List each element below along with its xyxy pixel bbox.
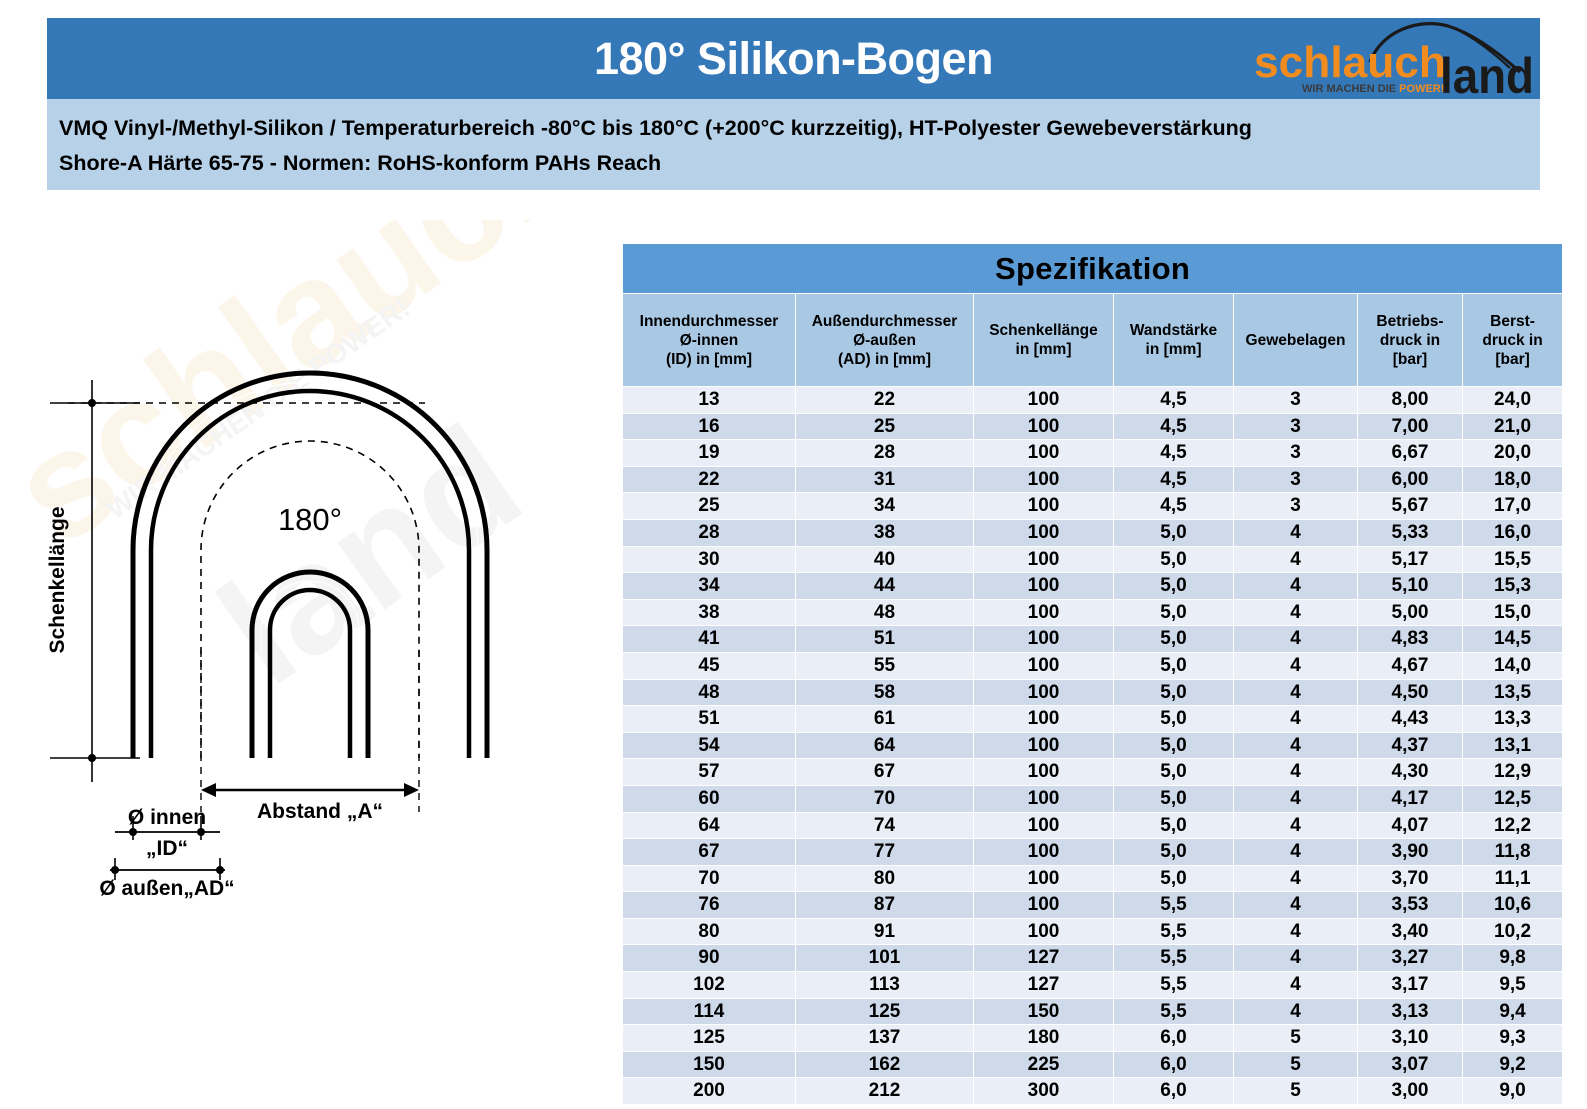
column-header-5: Betriebs-druck in[bar] [1358, 294, 1463, 387]
cell-r9-c6: 14,5 [1463, 626, 1563, 653]
inner-diameter-code: „ID“ [146, 837, 188, 860]
cell-r8-c2: 100 [974, 599, 1114, 626]
cell-r4-c0: 25 [623, 493, 796, 520]
cell-r13-c0: 54 [623, 732, 796, 759]
table-row: 1141251505,543,139,4 [623, 998, 1563, 1025]
cell-r18-c2: 100 [974, 865, 1114, 892]
cell-r7-c6: 15,3 [1463, 573, 1563, 600]
cell-r1-c4: 3 [1234, 413, 1358, 440]
table-banner-row: Spezifikation [623, 244, 1563, 294]
cell-r2-c5: 6,67 [1358, 440, 1463, 467]
cell-r26-c5: 3,00 [1358, 1078, 1463, 1105]
cell-r24-c4: 5 [1234, 1025, 1358, 1052]
cell-r6-c6: 15,5 [1463, 546, 1563, 573]
subtitle-line-1: VMQ Vinyl-/Methyl-Silikon / Temperaturbe… [59, 111, 1540, 146]
cell-r0-c5: 8,00 [1358, 387, 1463, 414]
cell-r22-c4: 4 [1234, 972, 1358, 999]
watermark: schlauch land WIR MACHEN DIE POWER! [20, 220, 600, 717]
cell-r14-c2: 100 [974, 759, 1114, 786]
cell-r16-c3: 5,0 [1114, 812, 1234, 839]
cell-r13-c5: 4,37 [1358, 732, 1463, 759]
cell-r25-c6: 9,2 [1463, 1051, 1563, 1078]
cell-r6-c3: 5,0 [1114, 546, 1234, 573]
cell-r20-c2: 100 [974, 918, 1114, 945]
cell-r22-c6: 9,5 [1463, 972, 1563, 999]
cell-r6-c5: 5,17 [1358, 546, 1463, 573]
cell-r25-c0: 150 [623, 1051, 796, 1078]
cell-r5-c2: 100 [974, 519, 1114, 546]
cell-r14-c3: 5,0 [1114, 759, 1234, 786]
cell-r16-c5: 4,07 [1358, 812, 1463, 839]
cell-r21-c0: 90 [623, 945, 796, 972]
table-row: 1501622256,053,079,2 [623, 1051, 1563, 1078]
cell-r13-c3: 5,0 [1114, 732, 1234, 759]
cell-r16-c4: 4 [1234, 812, 1358, 839]
table-row: 1251371806,053,109,3 [623, 1025, 1563, 1052]
cell-r12-c4: 4 [1234, 706, 1358, 733]
cell-r19-c5: 3,53 [1358, 892, 1463, 919]
cell-r14-c1: 67 [796, 759, 974, 786]
table-row: 38481005,045,0015,0 [623, 599, 1563, 626]
cell-r11-c1: 58 [796, 679, 974, 706]
cell-r22-c5: 3,17 [1358, 972, 1463, 999]
cell-r18-c1: 80 [796, 865, 974, 892]
column-header-2: Schenkellängein [mm] [974, 294, 1114, 387]
cell-r6-c2: 100 [974, 546, 1114, 573]
cell-r10-c5: 4,67 [1358, 652, 1463, 679]
page-title: 180° Silikon-Bogen [594, 33, 993, 85]
cell-r17-c3: 5,0 [1114, 839, 1234, 866]
cell-r11-c6: 13,5 [1463, 679, 1563, 706]
cell-r23-c5: 3,13 [1358, 998, 1463, 1025]
cell-r12-c6: 13,3 [1463, 706, 1563, 733]
cell-r25-c3: 6,0 [1114, 1051, 1234, 1078]
cell-r3-c2: 100 [974, 466, 1114, 493]
table-row: 48581005,044,5013,5 [623, 679, 1563, 706]
cell-r16-c6: 12,2 [1463, 812, 1563, 839]
cell-r4-c4: 3 [1234, 493, 1358, 520]
table-row: 19281004,536,6720,0 [623, 440, 1563, 467]
cell-r5-c1: 38 [796, 519, 974, 546]
cell-r15-c4: 4 [1234, 785, 1358, 812]
cell-r19-c0: 76 [623, 892, 796, 919]
cell-r25-c2: 225 [974, 1051, 1114, 1078]
cell-r24-c2: 180 [974, 1025, 1114, 1052]
specification-table: Spezifikation InnendurchmesserØ-innen(ID… [622, 243, 1563, 1105]
cell-r13-c2: 100 [974, 732, 1114, 759]
cell-r2-c2: 100 [974, 440, 1114, 467]
cell-r2-c4: 3 [1234, 440, 1358, 467]
cell-r14-c0: 57 [623, 759, 796, 786]
cell-r11-c3: 5,0 [1114, 679, 1234, 706]
cell-r7-c4: 4 [1234, 573, 1358, 600]
cell-r11-c2: 100 [974, 679, 1114, 706]
cell-r15-c1: 70 [796, 785, 974, 812]
cell-r15-c5: 4,17 [1358, 785, 1463, 812]
column-header-6: Berst-druck in[bar] [1463, 294, 1563, 387]
cell-r6-c4: 4 [1234, 546, 1358, 573]
cell-r10-c2: 100 [974, 652, 1114, 679]
cell-r23-c2: 150 [974, 998, 1114, 1025]
cell-r24-c3: 6,0 [1114, 1025, 1234, 1052]
cell-r1-c1: 25 [796, 413, 974, 440]
cell-r10-c1: 55 [796, 652, 974, 679]
cell-r17-c4: 4 [1234, 839, 1358, 866]
cell-r9-c1: 51 [796, 626, 974, 653]
cell-r7-c3: 5,0 [1114, 573, 1234, 600]
cell-r1-c5: 7,00 [1358, 413, 1463, 440]
cell-r3-c3: 4,5 [1114, 466, 1234, 493]
table-row: 901011275,543,279,8 [623, 945, 1563, 972]
cell-r18-c0: 70 [623, 865, 796, 892]
cell-r13-c4: 4 [1234, 732, 1358, 759]
cell-r5-c3: 5,0 [1114, 519, 1234, 546]
cell-r2-c0: 19 [623, 440, 796, 467]
cell-r18-c3: 5,0 [1114, 865, 1234, 892]
table-row: 13221004,538,0024,0 [623, 387, 1563, 414]
cell-r18-c5: 3,70 [1358, 865, 1463, 892]
table-row: 54641005,044,3713,1 [623, 732, 1563, 759]
distance-label: Abstand „A“ [257, 800, 383, 823]
cell-r21-c4: 4 [1234, 945, 1358, 972]
cell-r12-c5: 4,43 [1358, 706, 1463, 733]
cell-r5-c0: 28 [623, 519, 796, 546]
cell-r20-c4: 4 [1234, 918, 1358, 945]
cell-r0-c2: 100 [974, 387, 1114, 414]
cell-r15-c3: 5,0 [1114, 785, 1234, 812]
table-row: 25341004,535,6717,0 [623, 493, 1563, 520]
cell-r23-c3: 5,5 [1114, 998, 1234, 1025]
cell-r20-c5: 3,40 [1358, 918, 1463, 945]
cell-r10-c6: 14,0 [1463, 652, 1563, 679]
cell-r0-c4: 3 [1234, 387, 1358, 414]
table-row: 28381005,045,3316,0 [623, 519, 1563, 546]
cell-r8-c5: 5,00 [1358, 599, 1463, 626]
cell-r8-c4: 4 [1234, 599, 1358, 626]
table-header-row: InnendurchmesserØ-innen(ID) in [mm]Außen… [623, 294, 1563, 387]
cell-r23-c0: 114 [623, 998, 796, 1025]
cell-r25-c5: 3,07 [1358, 1051, 1463, 1078]
cell-r16-c0: 64 [623, 812, 796, 839]
cell-r12-c3: 5,0 [1114, 706, 1234, 733]
table-row: 80911005,543,4010,2 [623, 918, 1563, 945]
cell-r19-c6: 10,6 [1463, 892, 1563, 919]
cell-r23-c1: 125 [796, 998, 974, 1025]
cell-r11-c0: 48 [623, 679, 796, 706]
table-row: 57671005,044,3012,9 [623, 759, 1563, 786]
logo-word-primary: schlauch [1254, 38, 1446, 87]
cell-r23-c4: 4 [1234, 998, 1358, 1025]
cell-r18-c6: 11,1 [1463, 865, 1563, 892]
cell-r7-c0: 34 [623, 573, 796, 600]
cell-r7-c5: 5,10 [1358, 573, 1463, 600]
column-header-3: Wandstärkein [mm] [1114, 294, 1234, 387]
cell-r24-c1: 137 [796, 1025, 974, 1052]
outer-diameter-label: Ø außen„AD“ [99, 877, 234, 900]
logo-word-secondary: land [1440, 48, 1534, 98]
table-row: 34441005,045,1015,3 [623, 573, 1563, 600]
cell-r20-c3: 5,5 [1114, 918, 1234, 945]
cell-r21-c2: 127 [974, 945, 1114, 972]
inner-diameter-label: Ø innen [128, 806, 206, 829]
cell-r5-c4: 4 [1234, 519, 1358, 546]
spec-banner: Spezifikation [623, 244, 1563, 294]
cell-r21-c6: 9,8 [1463, 945, 1563, 972]
subtitle-line-2: Shore-A Härte 65-75 - Normen: RoHS-konfo… [59, 146, 1540, 181]
cell-r1-c6: 21,0 [1463, 413, 1563, 440]
cell-r26-c2: 300 [974, 1078, 1114, 1105]
cell-r15-c0: 60 [623, 785, 796, 812]
cell-r21-c3: 5,5 [1114, 945, 1234, 972]
cell-r9-c3: 5,0 [1114, 626, 1234, 653]
column-header-1: AußendurchmesserØ-außen(AD) in [mm] [796, 294, 974, 387]
cell-r16-c2: 100 [974, 812, 1114, 839]
inner-diameter-dimension: Ø innen „ID“ [115, 806, 220, 860]
title-bar: 180° Silikon-Bogen schlauch land WIR MAC… [47, 18, 1540, 99]
angle-label: 180° [278, 502, 342, 537]
cell-r3-c6: 18,0 [1463, 466, 1563, 493]
cell-r21-c1: 101 [796, 945, 974, 972]
cell-r25-c4: 5 [1234, 1051, 1358, 1078]
cell-r9-c4: 4 [1234, 626, 1358, 653]
cell-r16-c1: 74 [796, 812, 974, 839]
logo-tagline: WIR MACHEN DIE POWER! [1302, 83, 1444, 95]
column-header-0: InnendurchmesserØ-innen(ID) in [mm] [623, 294, 796, 387]
cell-r19-c2: 100 [974, 892, 1114, 919]
cell-r10-c4: 4 [1234, 652, 1358, 679]
table-row: 70801005,043,7011,1 [623, 865, 1563, 892]
logo-graphic: schlauch land WIR MACHEN DIE POWER! [1252, 20, 1534, 98]
cell-r2-c3: 4,5 [1114, 440, 1234, 467]
cell-r22-c3: 5,5 [1114, 972, 1234, 999]
cell-r21-c5: 3,27 [1358, 945, 1463, 972]
cell-r15-c2: 100 [974, 785, 1114, 812]
table-row: 30401005,045,1715,5 [623, 546, 1563, 573]
outer-diameter-dimension: Ø außen„AD“ [99, 858, 234, 900]
cell-r26-c3: 6,0 [1114, 1078, 1234, 1105]
table-row: 2002123006,053,009,0 [623, 1078, 1563, 1105]
cell-r14-c4: 4 [1234, 759, 1358, 786]
cell-r24-c0: 125 [623, 1025, 796, 1052]
cell-r26-c0: 200 [623, 1078, 796, 1105]
cell-r26-c6: 9,0 [1463, 1078, 1563, 1105]
cell-r23-c6: 9,4 [1463, 998, 1563, 1025]
cell-r17-c2: 100 [974, 839, 1114, 866]
cell-r9-c5: 4,83 [1358, 626, 1463, 653]
cell-r4-c2: 100 [974, 493, 1114, 520]
technical-drawing: schlauch land WIR MACHEN DIE POWER! [20, 220, 600, 900]
cell-r25-c1: 162 [796, 1051, 974, 1078]
cell-r1-c3: 4,5 [1114, 413, 1234, 440]
column-header-4: Gewebelagen [1234, 294, 1358, 387]
cell-r22-c0: 102 [623, 972, 796, 999]
subtitle-bar: VMQ Vinyl-/Methyl-Silikon / Temperaturbe… [47, 99, 1540, 190]
table-row: 22311004,536,0018,0 [623, 466, 1563, 493]
distance-dimension: Abstand „A“ [201, 783, 419, 823]
cell-r2-c1: 28 [796, 440, 974, 467]
cell-r15-c6: 12,5 [1463, 785, 1563, 812]
cell-r17-c6: 11,8 [1463, 839, 1563, 866]
cell-r18-c4: 4 [1234, 865, 1358, 892]
cell-r22-c2: 127 [974, 972, 1114, 999]
cell-r0-c6: 24,0 [1463, 387, 1563, 414]
cell-r13-c6: 13,1 [1463, 732, 1563, 759]
table-row: 76871005,543,5310,6 [623, 892, 1563, 919]
cell-r0-c1: 22 [796, 387, 974, 414]
cell-r13-c1: 64 [796, 732, 974, 759]
cell-r5-c6: 16,0 [1463, 519, 1563, 546]
cell-r6-c1: 40 [796, 546, 974, 573]
cell-r19-c4: 4 [1234, 892, 1358, 919]
cell-r12-c2: 100 [974, 706, 1114, 733]
cell-r20-c0: 80 [623, 918, 796, 945]
table-row: 45551005,044,6714,0 [623, 652, 1563, 679]
cell-r8-c0: 38 [623, 599, 796, 626]
cell-r20-c1: 91 [796, 918, 974, 945]
cell-r7-c2: 100 [974, 573, 1114, 600]
table-row: 64741005,044,0712,2 [623, 812, 1563, 839]
cell-r19-c1: 87 [796, 892, 974, 919]
cell-r8-c1: 48 [796, 599, 974, 626]
cell-r17-c5: 3,90 [1358, 839, 1463, 866]
cell-r19-c3: 5,5 [1114, 892, 1234, 919]
cell-r7-c1: 44 [796, 573, 974, 600]
table-row: 51611005,044,4313,3 [623, 706, 1563, 733]
cell-r3-c0: 22 [623, 466, 796, 493]
cell-r14-c5: 4,30 [1358, 759, 1463, 786]
cell-r26-c4: 5 [1234, 1078, 1358, 1105]
cell-r24-c5: 3,10 [1358, 1025, 1463, 1052]
cell-r26-c1: 212 [796, 1078, 974, 1105]
cell-r11-c4: 4 [1234, 679, 1358, 706]
cell-r3-c4: 3 [1234, 466, 1358, 493]
cell-r5-c5: 5,33 [1358, 519, 1463, 546]
cell-r3-c1: 31 [796, 466, 974, 493]
cell-r0-c3: 4,5 [1114, 387, 1234, 414]
cell-r20-c6: 10,2 [1463, 918, 1563, 945]
table-row: 41511005,044,8314,5 [623, 626, 1563, 653]
table-row: 60701005,044,1712,5 [623, 785, 1563, 812]
cell-r22-c1: 113 [796, 972, 974, 999]
cell-r4-c1: 34 [796, 493, 974, 520]
table-body: 13221004,538,0024,016251004,537,0021,019… [623, 387, 1563, 1105]
table-row: 67771005,043,9011,8 [623, 839, 1563, 866]
cell-r17-c1: 77 [796, 839, 974, 866]
schlauchland-logo: schlauch land WIR MACHEN DIE POWER! [1252, 20, 1534, 98]
cell-r6-c0: 30 [623, 546, 796, 573]
table-row: 16251004,537,0021,0 [623, 413, 1563, 440]
cell-r11-c5: 4,50 [1358, 679, 1463, 706]
cell-r8-c6: 15,0 [1463, 599, 1563, 626]
cell-r9-c0: 41 [623, 626, 796, 653]
cell-r24-c6: 9,3 [1463, 1025, 1563, 1052]
cell-r12-c0: 51 [623, 706, 796, 733]
cell-r10-c3: 5,0 [1114, 652, 1234, 679]
cell-r12-c1: 61 [796, 706, 974, 733]
cell-r9-c2: 100 [974, 626, 1114, 653]
cell-r4-c5: 5,67 [1358, 493, 1463, 520]
cell-r17-c0: 67 [623, 839, 796, 866]
table-row: 1021131275,543,179,5 [623, 972, 1563, 999]
leg-length-label: Schenkellänge [46, 506, 69, 653]
cell-r4-c3: 4,5 [1114, 493, 1234, 520]
cell-r10-c0: 45 [623, 652, 796, 679]
cell-r2-c6: 20,0 [1463, 440, 1563, 467]
cell-r14-c6: 12,9 [1463, 759, 1563, 786]
cell-r1-c2: 100 [974, 413, 1114, 440]
cell-r1-c0: 16 [623, 413, 796, 440]
cell-r3-c5: 6,00 [1358, 466, 1463, 493]
cell-r8-c3: 5,0 [1114, 599, 1234, 626]
cell-r4-c6: 17,0 [1463, 493, 1563, 520]
cell-r0-c0: 13 [623, 387, 796, 414]
